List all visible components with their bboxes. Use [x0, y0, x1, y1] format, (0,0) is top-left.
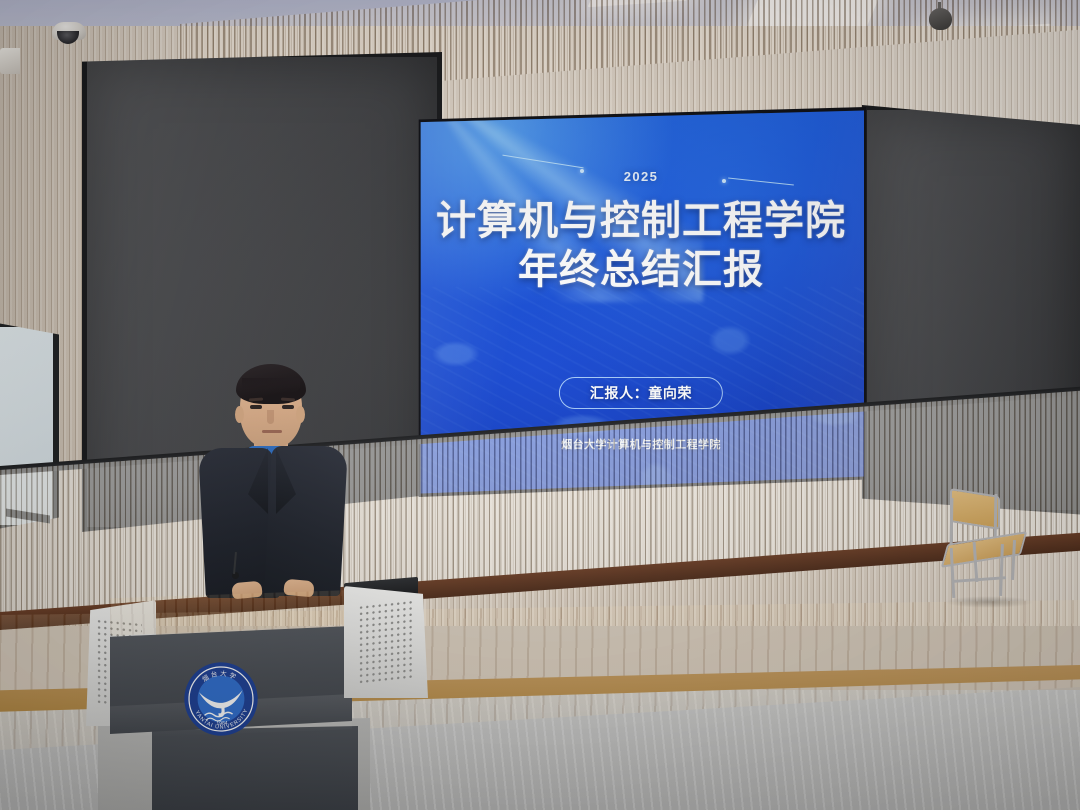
- classroom-chair: [938, 492, 1030, 604]
- slide-year: 2025: [418, 169, 864, 184]
- slide-title: 计算机与控制工程学院 年终总结汇报: [418, 197, 864, 295]
- slide-presenter-badge: 汇报人：童向荣: [559, 377, 723, 409]
- podium-speaker-grille-icon: [358, 599, 412, 687]
- presenter-person: [196, 360, 348, 610]
- lecture-hall-photo: 2025 计算机与控制工程学院 年终总结汇报 汇报人：童向荣 烟台大学计算机与控…: [0, 0, 1080, 810]
- slide-title-line2: 年终总结汇报: [418, 246, 864, 295]
- podium-microphone-icon: [232, 572, 239, 579]
- chair-backrest: [950, 488, 1000, 530]
- lectern-podium: [86, 586, 438, 810]
- wall-sensor-icon: [0, 48, 20, 74]
- yantai-university-logo: 1984 烟台大学 YANTAI UNIVERSITY: [180, 658, 261, 739]
- person-hair: [236, 364, 306, 404]
- slide-title-line1: 计算机与控制工程学院: [436, 198, 846, 243]
